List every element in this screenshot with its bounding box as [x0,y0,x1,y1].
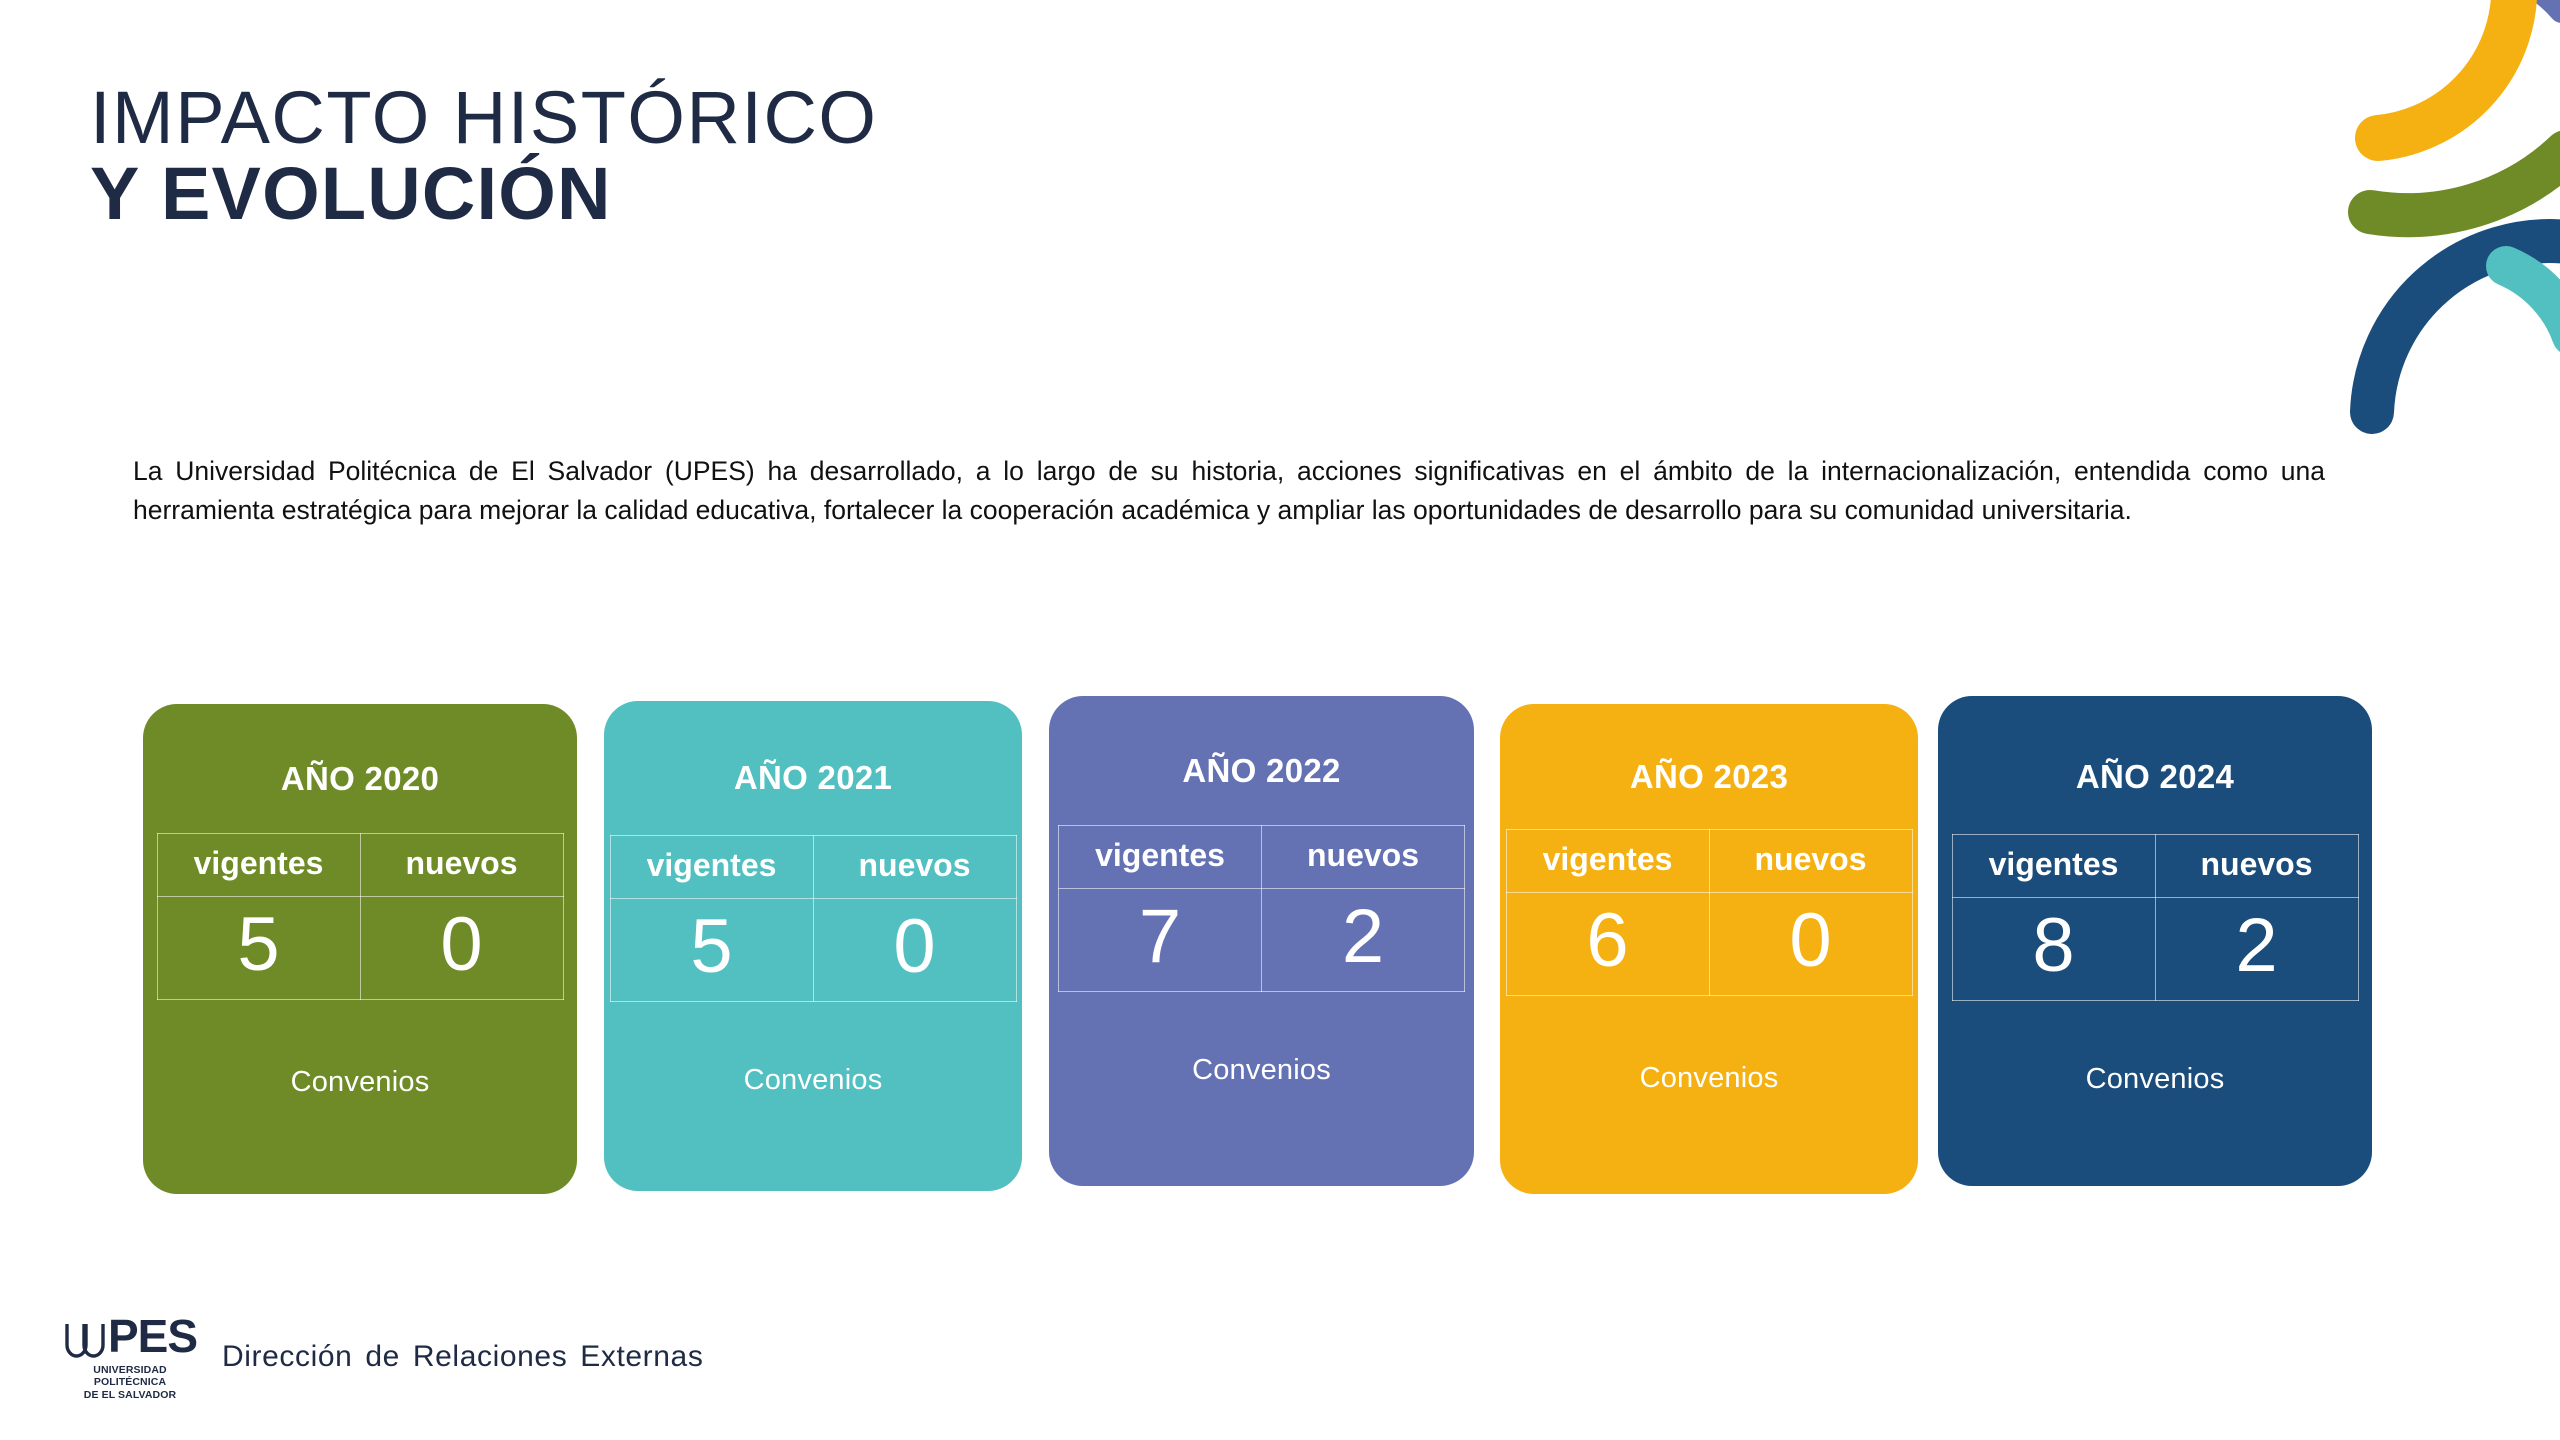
card-footer-label: Convenios [1192,1054,1331,1087]
column-header-vigentes: vigentes [1506,830,1709,893]
value-vigentes: 7 [1059,889,1262,992]
value-nuevos: 0 [360,897,563,1000]
value-nuevos: 0 [1709,893,1912,996]
intro-paragraph: La Universidad Politécnica de El Salvado… [133,452,2325,530]
year-card-2023[interactable]: AÑO 2023 vigentes nuevos 6 0 Convenios [1500,704,1918,1194]
title-line-2: Y EVOLUCIÓN [90,155,877,233]
card-footer-label: Convenios [1640,1062,1779,1095]
year-card-2021[interactable]: AÑO 2021 vigentes nuevos 5 0 Convenios [604,701,1022,1191]
card-footer-label: Convenios [744,1064,883,1097]
slide-root: IMPACTO HISTÓRICO Y EVOLUCIÓN La Univers… [0,0,2560,1440]
column-header-vigentes: vigentes [610,836,813,899]
arc-green-icon [2370,152,2560,215]
card-title: AÑO 2022 [1182,752,1340,790]
card-title: AÑO 2020 [281,760,439,798]
column-header-nuevos: nuevos [2155,835,2358,898]
column-header-vigentes: vigentes [1059,826,1262,889]
arc-navy-icon [2372,241,2560,412]
value-vigentes: 5 [610,899,813,1002]
logo-subtitle: UNIVERSIDAD POLITÉCNICA DE EL SALVADOR [68,1364,192,1402]
title-line-1: IMPACTO HISTÓRICO [90,82,877,155]
year-cards-row: AÑO 2020 vigentes nuevos 5 0 Convenios A… [143,700,2433,1194]
value-vigentes: 6 [1506,893,1709,996]
logo-subtitle-line-1: UNIVERSIDAD POLITÉCNICA [68,1364,192,1390]
logo-subtitle-line-2: DE EL SALVADOR [68,1389,192,1402]
card-stats-table: vigentes nuevos 7 2 [1058,825,1465,992]
column-header-nuevos: nuevos [360,834,563,897]
arc-yellow-icon [2378,0,2514,138]
column-header-vigentes: vigentes [157,834,360,897]
page-title: IMPACTO HISTÓRICO Y EVOLUCIÓN [90,82,877,233]
value-nuevos: 0 [813,899,1016,1002]
year-card-2022[interactable]: AÑO 2022 vigentes nuevos 7 2 Convenios [1049,696,1474,1186]
column-header-nuevos: nuevos [1709,830,1912,893]
card-stats-table: vigentes nuevos 6 0 [1506,829,1913,996]
card-footer-label: Convenios [291,1066,430,1099]
column-header-nuevos: nuevos [1262,826,1465,889]
arc-purple-icon [2450,0,2560,10]
logo-wordmark: PES [63,1313,197,1359]
logo-double-u-icon [63,1323,107,1359]
footer-bar: PES UNIVERSIDAD POLITÉCNICA DE EL SALVAD… [68,1313,703,1402]
decorative-arcs [2300,0,2560,470]
upes-logo: PES UNIVERSIDAD POLITÉCNICA DE EL SALVAD… [68,1313,192,1402]
card-stats-table: vigentes nuevos 8 2 [1952,834,2359,1001]
column-header-nuevos: nuevos [813,836,1016,899]
year-card-2020[interactable]: AÑO 2020 vigentes nuevos 5 0 Convenios [143,704,577,1194]
value-nuevos: 2 [2155,898,2358,1001]
department-label: Dirección de Relaciones Externas [222,1340,703,1374]
card-title: AÑO 2023 [1630,758,1788,796]
card-stats-table: vigentes nuevos 5 0 [610,835,1017,1002]
card-title: AÑO 2021 [734,759,892,797]
value-vigentes: 8 [1952,898,2155,1001]
logo-pes-text: PES [108,1313,197,1359]
value-nuevos: 2 [1262,889,1465,992]
year-card-2024[interactable]: AÑO 2024 vigentes nuevos 8 2 Convenios [1938,696,2372,1186]
card-footer-label: Convenios [2086,1063,2225,1096]
column-header-vigentes: vigentes [1952,835,2155,898]
card-stats-table: vigentes nuevos 5 0 [157,833,564,1000]
value-vigentes: 5 [157,897,360,1000]
arc-teal-icon [2506,266,2560,336]
card-title: AÑO 2024 [2076,758,2234,796]
